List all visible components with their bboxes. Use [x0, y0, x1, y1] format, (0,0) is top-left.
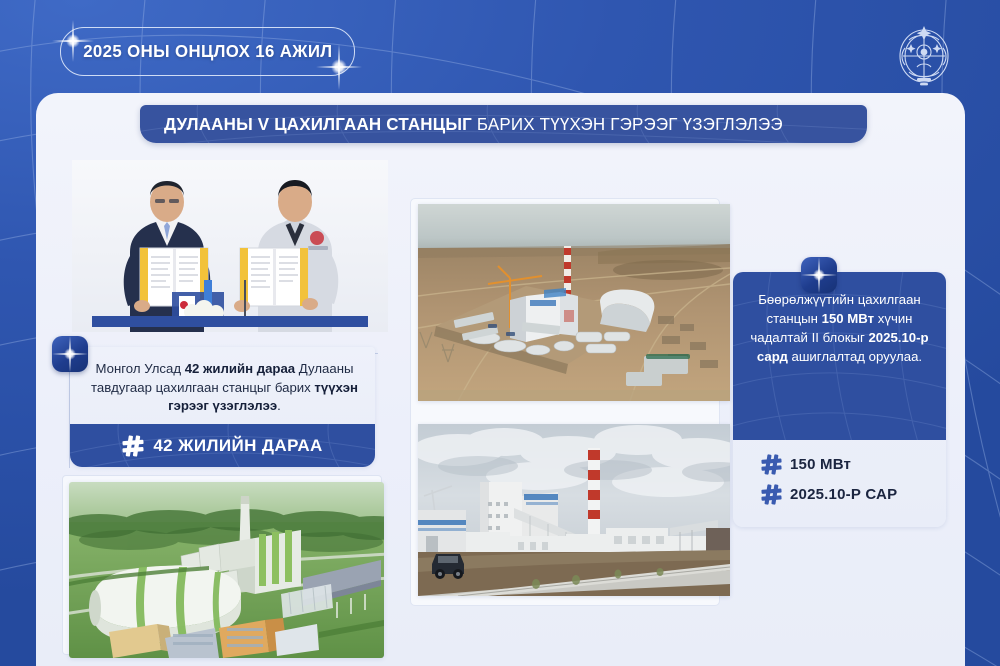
page-title-strong: ДУЛААНЫ V ЦАХИЛГААН СТАНЦЫГ [164, 114, 472, 134]
tag-item: 150 МВт [761, 454, 946, 475]
sparkle-badge [801, 257, 837, 293]
tag-label: 2025.10-Р САР [790, 486, 897, 503]
photo-signing-ceremony [72, 160, 388, 332]
mongolia-state-emblem-icon [893, 22, 955, 90]
left-text-bold1: 42 жилийн дараа [185, 361, 295, 376]
sparkle-icon [52, 336, 88, 372]
left-info-card: Монгол Улсад 42 жилийн дараа Дулааны тав… [70, 347, 375, 467]
left-text-part1: Монгол Улсад [96, 361, 185, 376]
left-card-tag-label: 42 ЖИЛИЙН ДАРАА [153, 436, 322, 456]
hashtag-glyph [761, 484, 782, 505]
sparkle-badge [52, 336, 88, 372]
right-text-part3: ашиглалтад оруулаа. [788, 349, 922, 364]
photo-construction-aerial-image [418, 204, 730, 401]
hashtag-icon [761, 454, 782, 475]
photo-construction-aerial [418, 204, 730, 401]
photo-plant-render [69, 482, 384, 658]
top-badge: 2025 ОНЫ ОНЦЛОХ 16 АЖИЛ [60, 27, 355, 76]
right-info-card-text: Бөөрөлжүүтийн цахилгаан станцын 150 МВт … [733, 272, 946, 366]
left-info-card-text: Монгол Улсад 42 жилийн дараа Дулааны тав… [70, 347, 375, 422]
right-text-bold1: 150 МВт [822, 311, 874, 326]
page-title: ДУЛААНЫ V ЦАХИЛГААН СТАНЦЫГ БАРИХ ТҮҮХЭН… [140, 105, 867, 143]
right-card-tag-list: 150 МВт 2025.10-Р САР [733, 440, 946, 514]
page-title-rest: БАРИХ ТҮҮХЭН ГЭРЭЭГ ҮЗЭГЛЭЛЭЭ [472, 114, 783, 134]
photo-plant-render-image [69, 482, 384, 658]
hashtag-glyph [761, 454, 782, 475]
photo-plant-ground [418, 424, 730, 596]
hashtag-icon [761, 484, 782, 505]
sparkle-icon [801, 257, 837, 293]
tag-item: 2025.10-Р САР [761, 484, 946, 505]
page-title-text: ДУЛААНЫ V ЦАХИЛГААН СТАНЦЫГ БАРИХ ТҮҮХЭН… [164, 114, 783, 135]
photo-plant-ground-image [418, 424, 730, 596]
top-badge-label: 2025 ОНЫ ОНЦЛОХ 16 АЖИЛ [83, 41, 332, 62]
infographic-slide: 2025 ОНЫ ОНЦЛОХ 16 АЖИЛ [0, 0, 1000, 666]
right-info-card: Бөөрөлжүүтийн цахилгаан станцын 150 МВт … [733, 272, 946, 527]
left-text-part3: . [277, 398, 281, 413]
hashtag-icon [122, 435, 144, 457]
tag-label: 150 МВт [790, 456, 851, 473]
hashtag-glyph [122, 435, 144, 457]
right-info-card-header: Бөөрөлжүүтийн цахилгаан станцын 150 МВт … [733, 272, 946, 440]
photo-signing-ceremony-image [72, 160, 388, 332]
left-card-tag-bar: 42 ЖИЛИЙН ДАРАА [70, 424, 375, 467]
